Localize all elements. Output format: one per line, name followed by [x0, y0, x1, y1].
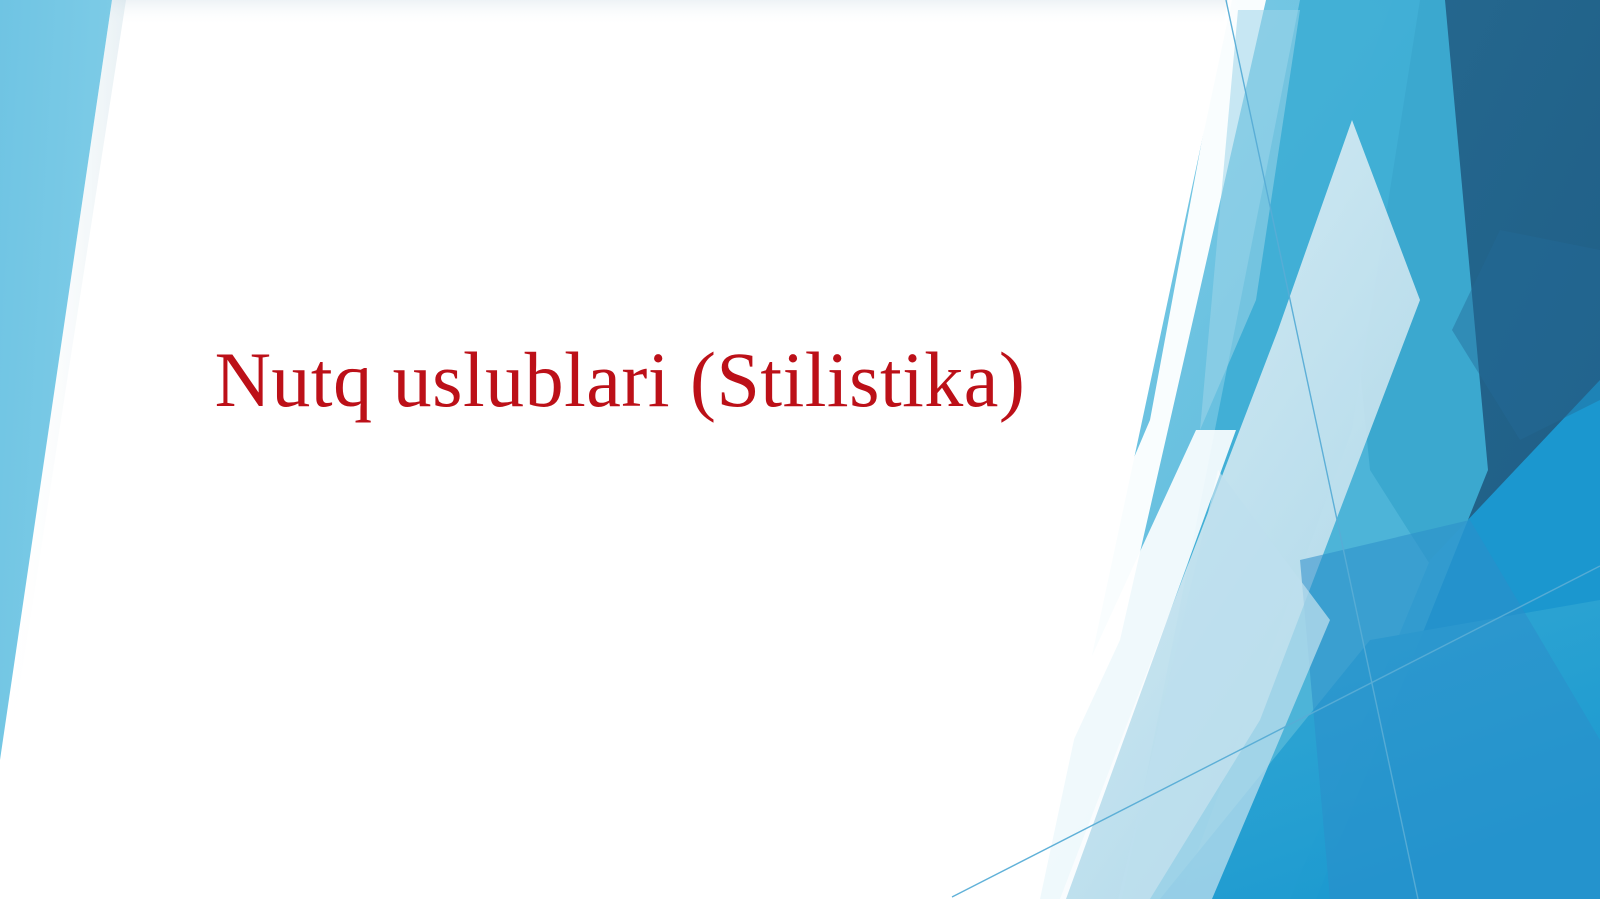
right-strong-blue-band: [1290, 380, 1600, 899]
accent-line-shallow: [952, 566, 1600, 897]
slide-title: Nutq uslublari (Stilistika): [215, 338, 1026, 422]
title-placeholder[interactable]: Nutq uslublari (Stilistika): [0, 300, 1240, 460]
slide-canvas: Nutq uslublari (Stilistika): [0, 0, 1600, 899]
medium-blue-facet: [1300, 520, 1600, 899]
bottom-bright-blue-triangle: [1160, 600, 1600, 899]
narrow-dark-facet: [1452, 230, 1600, 440]
dark-blue-band: [1338, 0, 1600, 640]
accent-line-steep: [1226, 0, 1418, 899]
top-edge-fade: [0, 0, 1600, 26]
subtitle-placeholder[interactable]: [120, 470, 1160, 560]
